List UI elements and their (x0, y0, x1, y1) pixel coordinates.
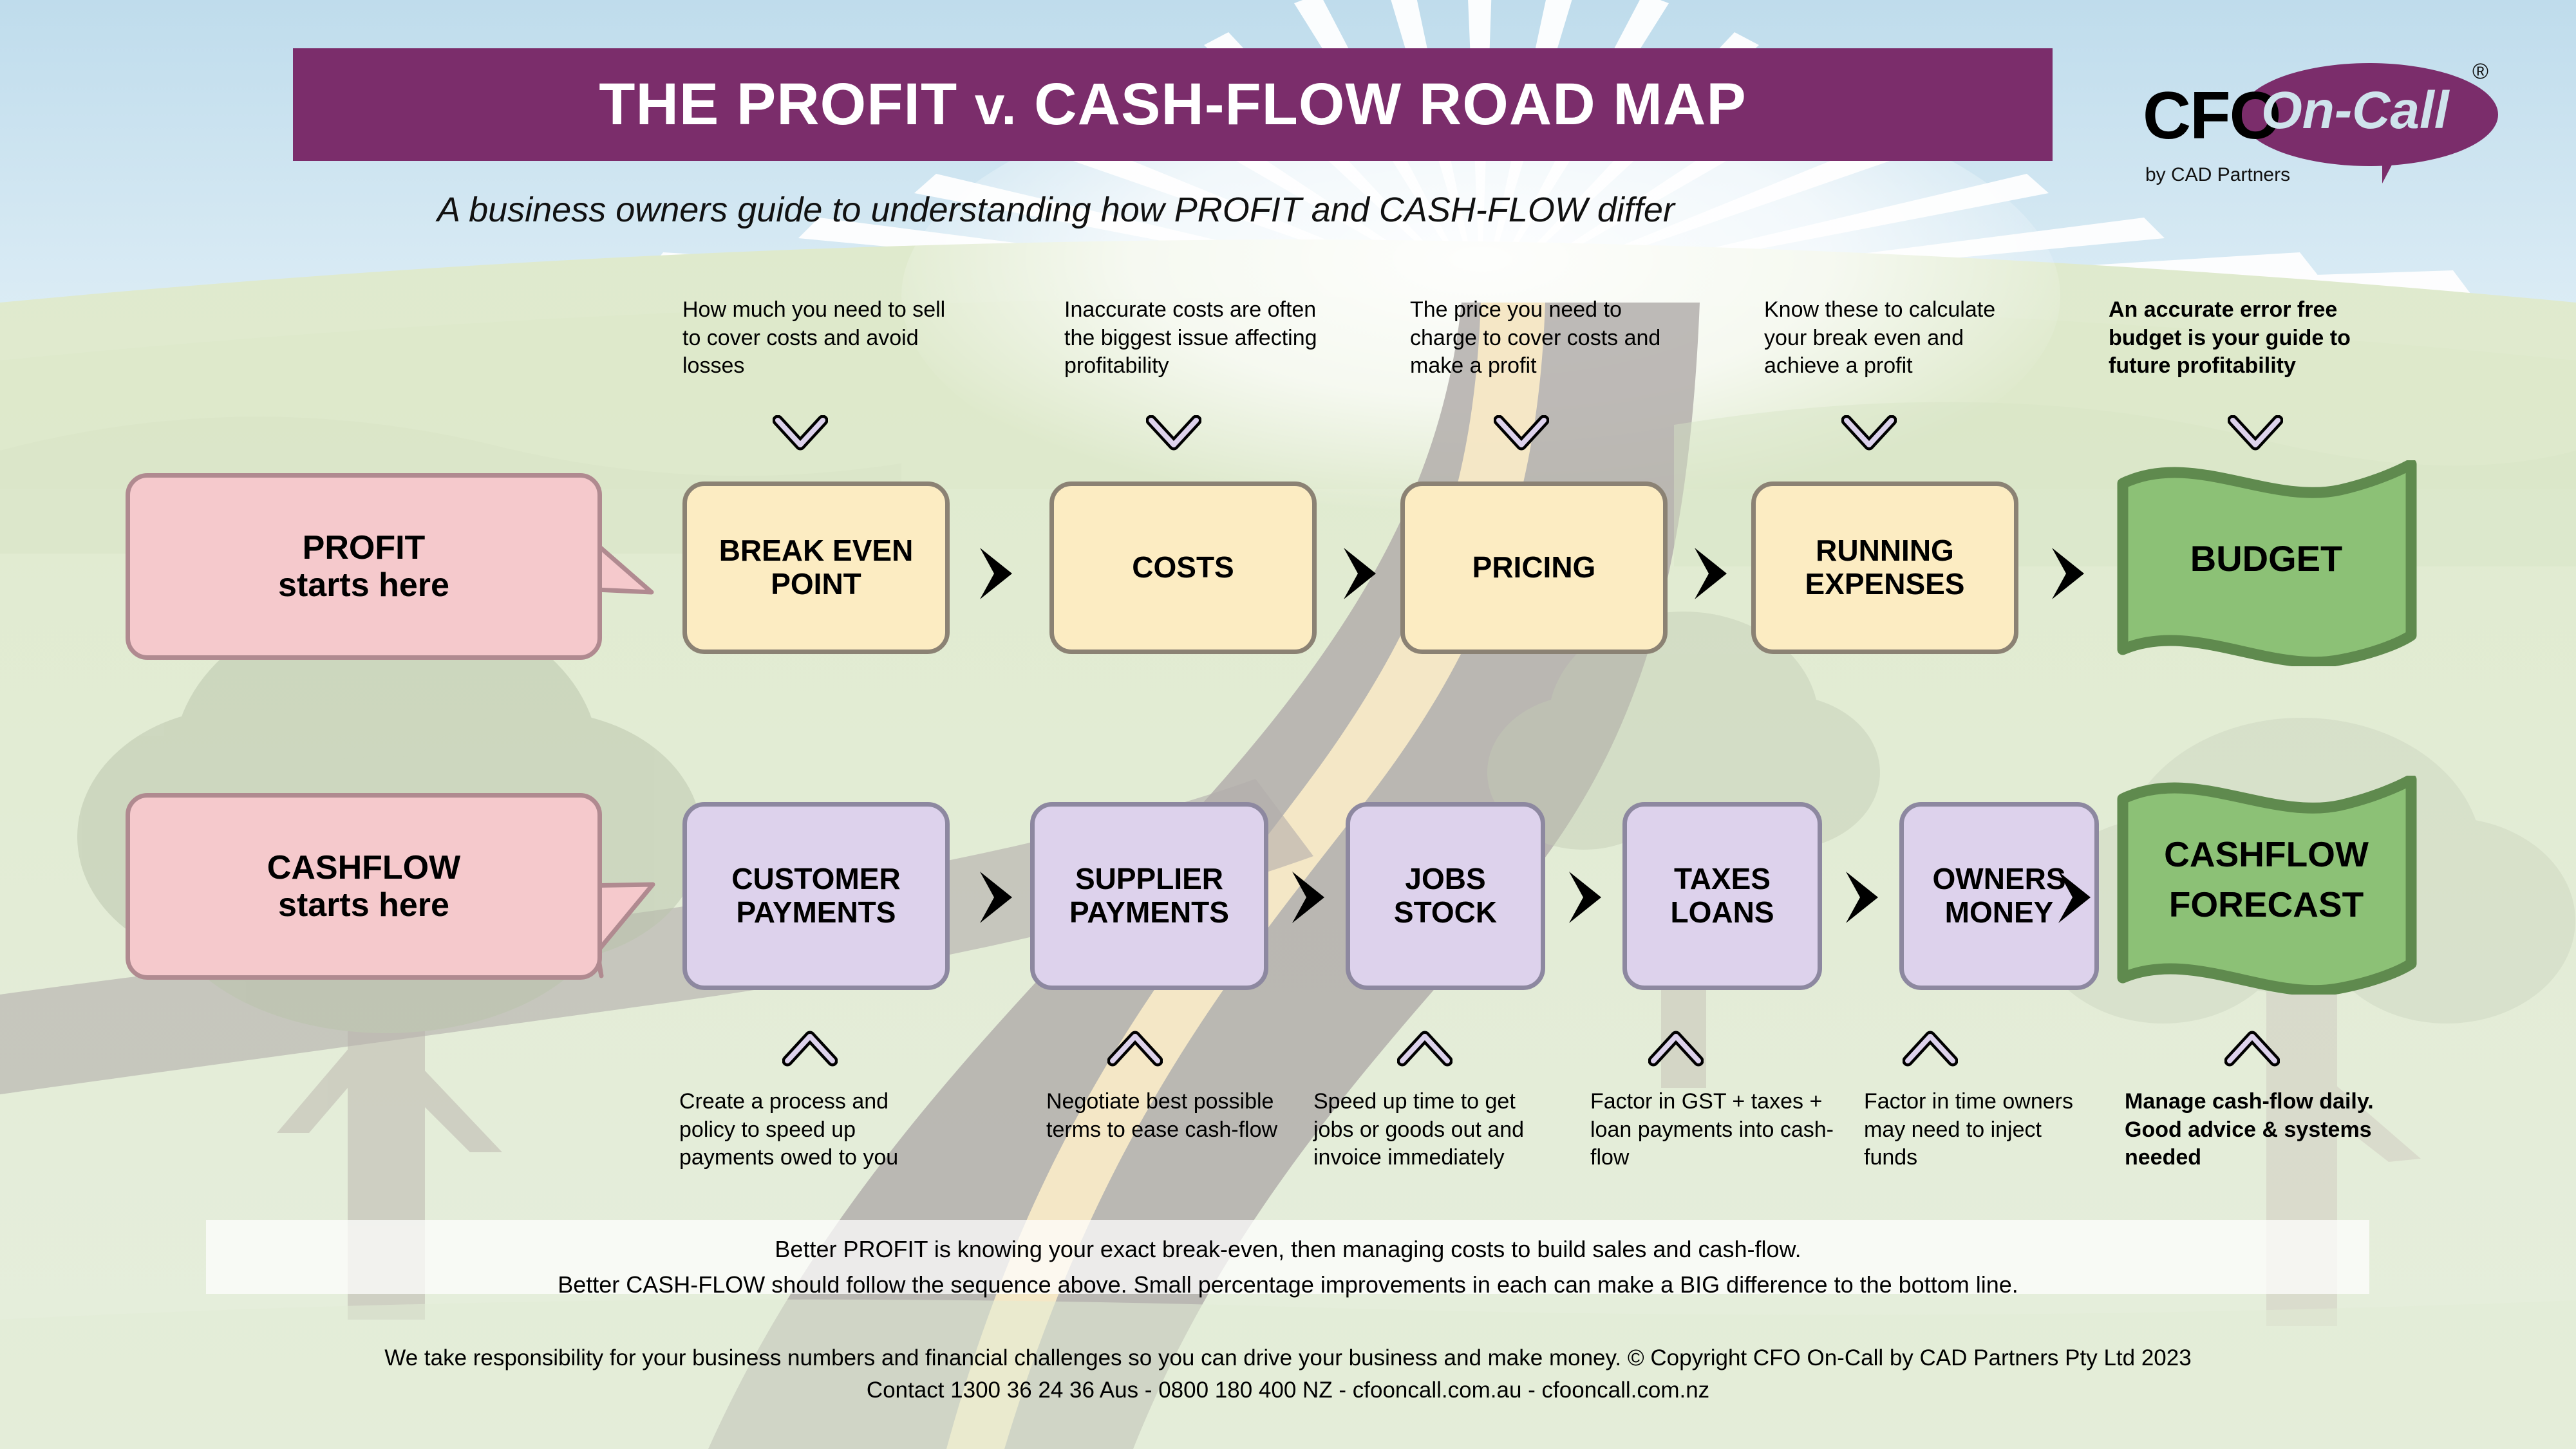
note-customer-payments: Create a process and policy to speed up … (679, 1088, 937, 1172)
step-label-line2: PAYMENTS (1069, 896, 1229, 930)
note-costs: Inaccurate costs are often the biggest i… (1064, 296, 1335, 380)
infographic-canvas: THE PROFIT v. CASH-FLOW ROAD MAP A busin… (0, 0, 2576, 1449)
step-label-line2: EXPENSES (1805, 568, 1965, 601)
chevron-up-icon-supplier-payments (1107, 1030, 1163, 1067)
arrow-right-icon-5 (972, 868, 1024, 927)
note-supplier-payments: Negotiate best possible terms to ease ca… (1046, 1088, 1278, 1144)
note-running-expenses: Know these to calculate your break even … (1764, 296, 2035, 380)
step-costs[interactable]: COSTS (1049, 481, 1317, 654)
step-label-line2: STOCK (1394, 896, 1497, 930)
step-label-line1: PRICING (1472, 551, 1596, 584)
step-pricing[interactable]: PRICING (1400, 481, 1668, 654)
goal-cashflow-label-line1: CASHFLOW (2109, 835, 2424, 874)
arrow-right-icon-8 (1838, 868, 1890, 927)
profit-bubble-line2: starts here (278, 566, 449, 604)
registered-trademark-icon: ® (2472, 59, 2488, 84)
chevron-down-icon-running-expenses (1841, 415, 1897, 453)
step-label-line1: CUSTOMER (731, 863, 900, 896)
goal-budget-flag[interactable]: BUDGET (2109, 460, 2424, 666)
step-running-expenses[interactable]: RUNNING EXPENSES (1751, 481, 2018, 654)
profit-bubble-line1: PROFIT (303, 529, 426, 566)
chevron-down-icon-budget (2228, 415, 2283, 453)
step-supplier-payments[interactable]: SUPPLIER PAYMENTS (1030, 802, 1268, 990)
chevron-up-icon-cashflow-forecast (2224, 1030, 2280, 1067)
step-label-line1: TAXES (1674, 863, 1771, 896)
chevron-down-icon-break-even (773, 415, 828, 453)
step-label-line2: LOANS (1671, 896, 1774, 930)
step-label-line2: PAYMENTS (737, 896, 896, 930)
footer-copyright: We take responsibility for your business… (0, 1345, 2576, 1371)
note-pricing: The price you need to charge to cover co… (1410, 296, 1668, 380)
step-jobs-stock[interactable]: JOBS STOCK (1346, 802, 1545, 990)
footer-contact: Contact 1300 36 24 36 Aus - 0800 180 400… (0, 1378, 2576, 1403)
chevron-up-icon-owners-money (1903, 1030, 1958, 1067)
note-owners-money: Factor in time owners may need to inject… (1864, 1088, 2083, 1172)
note-taxes-loans: Factor in GST + taxes + loan payments in… (1590, 1088, 1841, 1172)
step-customer-payments[interactable]: CUSTOMER PAYMENTS (682, 802, 950, 990)
page-subtitle: A business owners guide to understanding… (0, 190, 2112, 230)
arrow-right-icon-6 (1284, 868, 1336, 927)
logo-cfo-text: CFO (2143, 82, 2280, 149)
page-title: THE PROFIT v. CASH-FLOW ROAD MAP (599, 71, 1746, 138)
note-jobs-stock: Speed up time to get jobs or goods out a… (1313, 1088, 1558, 1172)
step-label-line2: POINT (771, 568, 861, 601)
step-label-line2: MONEY (1945, 896, 2054, 930)
step-label-line1: COSTS (1132, 551, 1234, 584)
step-label-line1: JOBS (1405, 863, 1485, 896)
chevron-down-icon-pricing (1494, 415, 1549, 453)
note-cashflow-forecast: Manage cash-flow daily. Good advice & sy… (2125, 1088, 2382, 1172)
logo-bubble-tail-icon (2382, 151, 2416, 183)
cfo-on-call-logo[interactable]: CFO On-Call by CAD Partners ® (2125, 45, 2485, 200)
arrow-right-icon-3 (1687, 544, 1738, 603)
title-banner: THE PROFIT v. CASH-FLOW ROAD MAP (293, 48, 2053, 161)
arrow-right-icon-2 (1336, 544, 1387, 603)
goal-cashflow-label-line2: FORECAST (2109, 885, 2424, 924)
logo-byline: by CAD Partners (2145, 164, 2290, 186)
cashflow-bubble-line2: starts here (278, 886, 449, 924)
step-label-line1: RUNNING (1816, 534, 1954, 568)
step-label-line1: SUPPLIER (1075, 863, 1223, 896)
cashflow-starts-here-bubble[interactable]: CASHFLOW starts here (126, 793, 602, 980)
profit-starts-here-bubble[interactable]: PROFIT starts here (126, 473, 602, 660)
step-label-line1: BREAK EVEN (719, 534, 914, 568)
step-label-line1: OWNERS (1933, 863, 2066, 896)
arrow-right-icon-9 (2051, 868, 2102, 927)
step-taxes-loans[interactable]: TAXES LOANS (1622, 802, 1822, 990)
chevron-up-icon-taxes-loans (1648, 1030, 1704, 1067)
logo-oncall-text: On-Call (2261, 80, 2449, 141)
step-break-even-point[interactable]: BREAK EVEN POINT (682, 481, 950, 654)
note-break-even-point: How much you need to sell to cover costs… (682, 296, 953, 380)
chevron-up-icon-jobs-stock (1397, 1030, 1453, 1067)
cashflow-bubble-line1: CASHFLOW (267, 849, 460, 886)
note-budget: An accurate error free budget is your gu… (2109, 296, 2392, 380)
chevron-down-icon-costs (1146, 415, 1201, 453)
arrow-right-icon-4 (2044, 544, 2096, 603)
footer-summary-line2: Better CASH-FLOW should follow the seque… (0, 1271, 2576, 1298)
chevron-up-icon-customer-payments (782, 1030, 838, 1067)
goal-cashflow-forecast-flag[interactable]: CASHFLOW FORECAST (2109, 776, 2424, 995)
footer-summary-line1: Better PROFIT is knowing your exact brea… (0, 1236, 2576, 1263)
arrow-right-icon-7 (1561, 868, 1613, 927)
arrow-right-icon-1 (972, 544, 1024, 603)
goal-budget-label: BUDGET (2109, 539, 2424, 579)
